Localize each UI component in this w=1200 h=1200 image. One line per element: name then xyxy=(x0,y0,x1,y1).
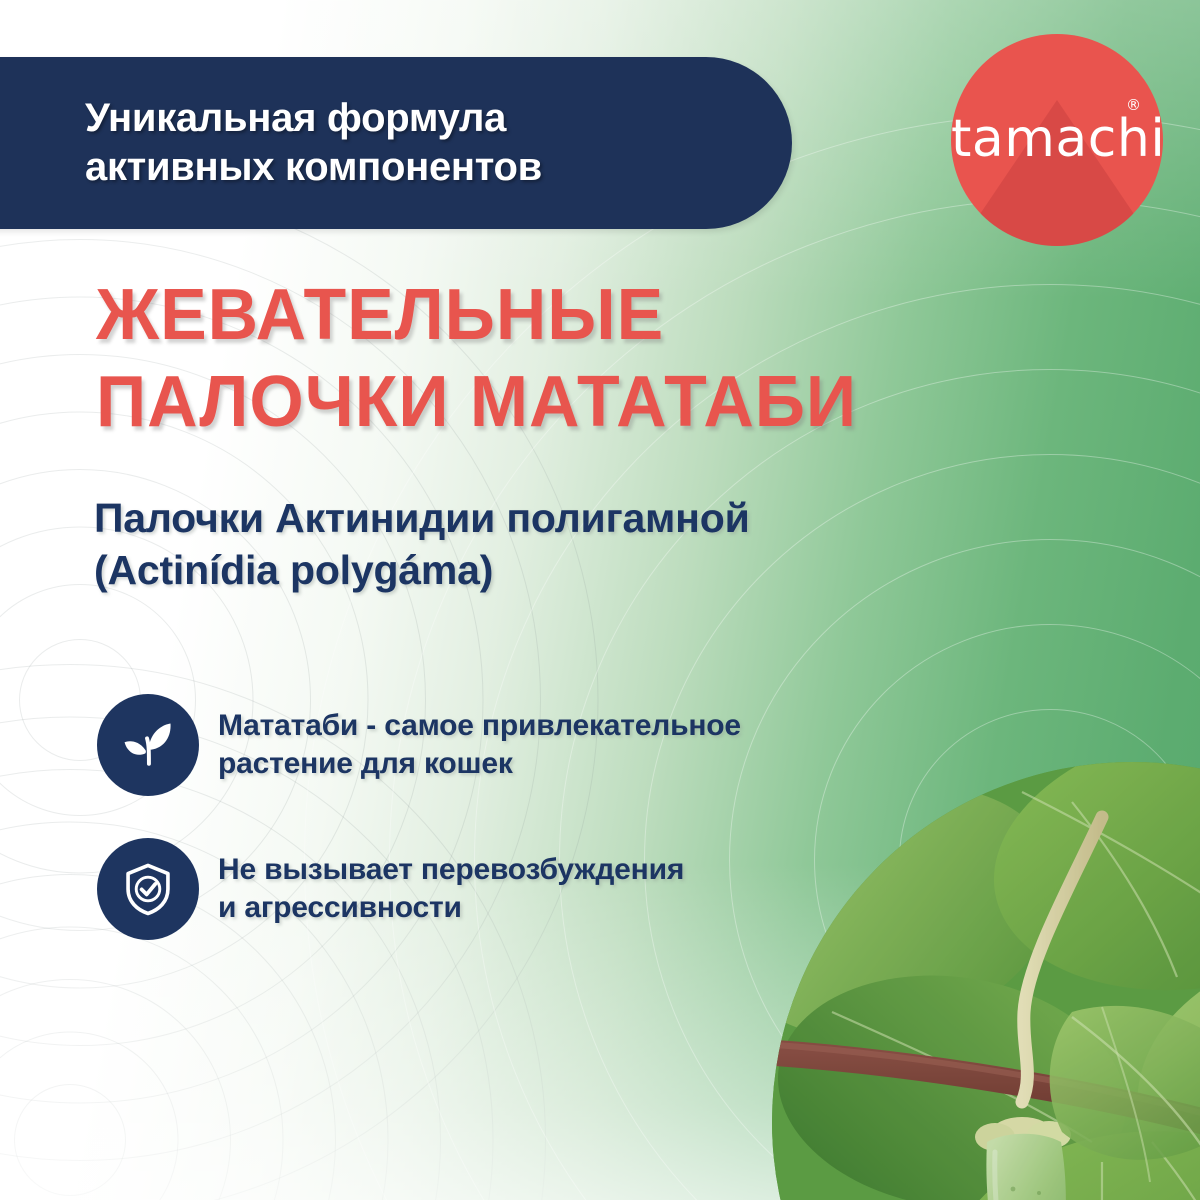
product-plant-photo xyxy=(772,762,1200,1200)
shield-check-icon xyxy=(97,838,199,940)
list-item-label: Мататаби - самое привлекательное растени… xyxy=(218,694,741,784)
list-item-label: Не вызывает перевозбуждения и агрессивно… xyxy=(218,838,684,928)
plant-photo-illustration xyxy=(772,762,1200,1200)
promo-poster: Уникальная формула активных компонентов … xyxy=(0,0,1200,1200)
brand-logo: tamachi ® xyxy=(951,34,1163,246)
leaf-sprout-icon xyxy=(97,694,199,796)
header-banner-text: Уникальная формула активных компонентов xyxy=(0,94,572,192)
page-title: ЖЕВАТЕЛЬНЫЕ ПАЛОЧКИ МАТАТАБИ xyxy=(96,272,950,446)
logo-wordmark: tamachi xyxy=(951,109,1163,169)
registered-trademark-icon: ® xyxy=(1126,96,1141,114)
header-banner: Уникальная формула активных компонентов xyxy=(0,57,792,229)
page-subtitle: Палочки Актинидии полигамной (Actinídia … xyxy=(94,493,994,596)
